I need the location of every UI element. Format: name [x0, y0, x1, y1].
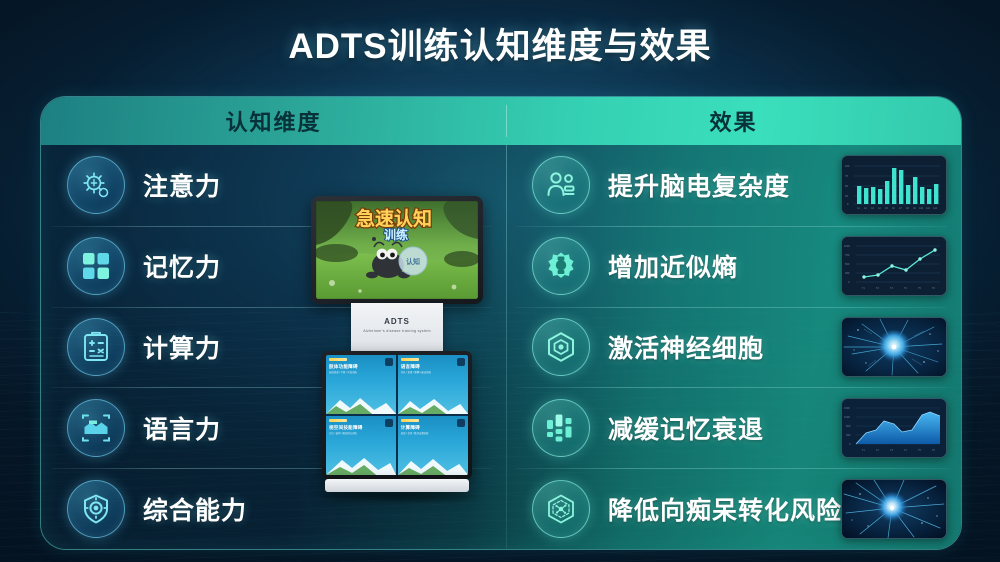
shield-network-icon — [532, 480, 590, 538]
slide-stage: ADTS训练认知维度与效果 认知维度 效果 — [0, 0, 1000, 562]
effect-label: 降低向痴呆转化风险 — [608, 491, 842, 527]
card-icon — [385, 419, 393, 427]
svg-text:训练: 训练 — [384, 227, 408, 242]
card-badge — [401, 358, 419, 361]
kiosk-brand-label: ADTS — [351, 317, 443, 326]
effect-row-approximate-entropy[interactable]: 增加近似熵 1000750 5002500 — [506, 226, 961, 307]
svg-text:250: 250 — [845, 271, 850, 275]
card-desc: 运动协调 / 平衡 / 步态训练 — [329, 371, 393, 375]
svg-text:500: 500 — [846, 424, 851, 428]
effects-column: 提升脑电复杂度 10075 50250 — [506, 145, 961, 549]
thumbnail-line-chart[interactable]: 1000750 5002500 T1T2T3 T4T — [841, 236, 947, 296]
kiosk-monitor: 认知 急速认知 急速认知 训练 训练 — [311, 196, 483, 304]
effect-row-reduce-dementia-risk[interactable]: 降低向痴呆转化风险 — [506, 468, 961, 549]
people-group-icon — [532, 156, 590, 214]
tablet-card[interactable]: 视空间技能障碍 方位 / 结构 / 图形辨认训练 — [326, 416, 396, 475]
card-icon — [457, 358, 465, 366]
tablet-card[interactable]: 语言障碍 命名 / 复述 / 理解与表达训练 — [398, 355, 468, 414]
header-divider — [506, 105, 507, 137]
card-icon — [385, 358, 393, 366]
card-title: 肢体功能障碍 — [329, 364, 358, 370]
dimension-label: 语言力 — [143, 410, 221, 446]
columns-container: 注意力 记忆力 — [41, 145, 961, 549]
panel-header-bar: 认知维度 效果 — [41, 97, 961, 145]
kiosk-brand-subtitle: Alzheimer's disease training system — [351, 329, 443, 333]
card-desc: 命名 / 复述 / 理解与表达训练 — [401, 371, 465, 375]
effect-row-activate-neurons[interactable]: 激活神经细胞 — [506, 307, 961, 388]
svg-text:750: 750 — [845, 253, 850, 257]
effect-label: 增加近似熵 — [608, 248, 738, 284]
card-badge — [401, 419, 419, 422]
svg-text:100: 100 — [845, 164, 850, 168]
svg-text:500: 500 — [845, 262, 850, 266]
hexagon-cell-icon — [532, 318, 590, 376]
tablet-card[interactable]: 肢体功能障碍 运动协调 / 平衡 / 步态训练 — [326, 355, 396, 414]
attention-target-icon — [67, 156, 125, 214]
dimension-label: 注意力 — [143, 167, 221, 203]
card-desc: 加减 / 金钱 / 数序运算训练 — [401, 432, 465, 436]
content-panel: 认知维度 效果 注意力 — [40, 96, 962, 550]
thumbnail-bar-chart[interactable]: 10075 50250 — [841, 155, 947, 215]
comprehensive-gear-icon — [67, 480, 125, 538]
effect-row-eeg-complexity[interactable]: 提升脑电复杂度 10075 50250 — [506, 145, 961, 226]
card-illustration — [398, 453, 468, 475]
svg-text:1000: 1000 — [844, 415, 850, 419]
svg-text:1500: 1500 — [844, 406, 850, 410]
dimension-label: 计算力 — [143, 329, 221, 365]
effect-row-slow-memory-decline[interactable]: 减缓记忆衰退 — [506, 387, 961, 468]
card-badge — [329, 419, 347, 422]
dimension-label: 综合能力 — [143, 491, 247, 527]
kiosk-game-screen[interactable]: 认知 急速认知 急速认知 训练 训练 — [316, 201, 478, 299]
svg-text:急速认知: 急速认知 — [356, 207, 432, 230]
thumbnail-area-chart[interactable]: 15001000 5002500 T1T2T3 T4T5T6 — [841, 398, 947, 458]
column-header-cognitive: 认知维度 — [41, 97, 506, 145]
svg-text:250: 250 — [846, 433, 851, 437]
column-header-effects: 效果 — [506, 97, 961, 145]
page-title: ADTS训练认知维度与效果 — [0, 18, 1000, 69]
effect-label: 提升脑电复杂度 — [608, 167, 790, 203]
kiosk-base — [325, 479, 469, 492]
tablet-card[interactable]: 计算障碍 加减 / 金钱 / 数序运算训练 — [398, 416, 468, 475]
blocks-bars-icon — [532, 399, 590, 457]
card-desc: 方位 / 结构 / 图形辨认训练 — [329, 432, 393, 436]
card-illustration — [398, 392, 468, 414]
language-speech-icon — [67, 399, 125, 457]
card-illustration — [326, 392, 396, 414]
card-illustration — [326, 453, 396, 475]
card-icon — [457, 419, 465, 427]
calculation-clipboard-icon — [67, 318, 125, 376]
kiosk-tablet: 肢体功能障碍 运动协调 / 平衡 / 步态训练 语言障碍 命名 / 复述 / 理… — [322, 351, 472, 479]
dimension-label: 记忆力 — [143, 248, 221, 284]
thumbnail-neuron-photo[interactable] — [841, 317, 947, 377]
memory-grid-icon — [67, 237, 125, 295]
kiosk-tablet-screen[interactable]: 肢体功能障碍 运动协调 / 平衡 / 步态训练 语言障碍 命名 / 复述 / 理… — [326, 355, 468, 475]
card-title: 视空间技能障碍 — [329, 425, 363, 431]
card-title: 计算障碍 — [401, 425, 420, 431]
brain-gear-icon — [532, 237, 590, 295]
thumbnail-neuron-photo[interactable] — [841, 479, 947, 539]
card-badge — [329, 358, 347, 361]
kiosk-brand-plate: ADTS Alzheimer's disease training system — [351, 303, 443, 351]
card-title: 语言障碍 — [401, 364, 420, 370]
svg-text:1000: 1000 — [844, 244, 850, 248]
effect-label: 减缓记忆衰退 — [608, 410, 764, 446]
effect-label: 激活神经细胞 — [608, 329, 764, 365]
svg-text:A12: A12 — [933, 207, 938, 210]
svg-text:A10: A10 — [919, 207, 924, 210]
svg-text:认知: 认知 — [406, 257, 420, 266]
adts-kiosk-device: 认知 急速认知 急速认知 训练 训练 ADTS — [303, 196, 493, 516]
